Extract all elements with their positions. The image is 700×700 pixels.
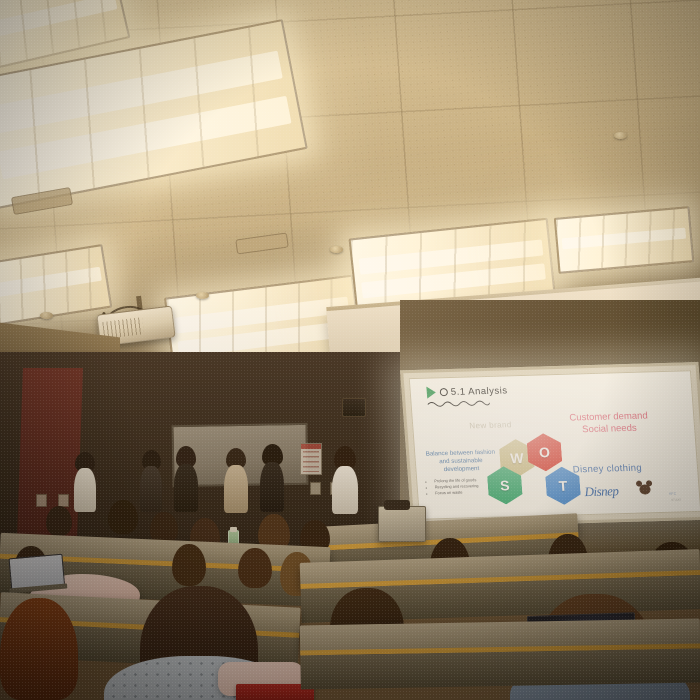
presenter-standing	[224, 448, 248, 510]
ceiling-sprinkler	[330, 246, 343, 253]
corner-logo-top: AFC	[669, 492, 677, 496]
new-brand-label: New brand	[469, 420, 512, 430]
slide-content: 5.1 Analysis New brand Customer demand S…	[410, 371, 700, 518]
wall-poster	[300, 443, 322, 475]
mickey-mouse-silhouette-icon	[636, 480, 653, 494]
audience-person	[172, 544, 206, 586]
av-equipment-top	[384, 500, 410, 510]
ceiling-sprinkler	[40, 312, 53, 319]
audience-person	[46, 506, 72, 536]
customer-demand-block: Customer demand Social needs	[551, 410, 668, 437]
av-equipment-cabinet	[378, 506, 426, 542]
classroom-photo-scene: 5.1 Analysis New brand Customer demand S…	[0, 0, 700, 700]
wavy-underline-icon	[427, 399, 490, 408]
customer-demand-line2: Social needs	[552, 422, 668, 437]
disney-clothing-label: Disney clothing	[572, 463, 642, 476]
slide-title-group: 5.1 Analysis	[426, 384, 508, 398]
wall-speaker	[342, 398, 366, 417]
balance-text: Balance between fashion and sustainable …	[421, 449, 501, 475]
presenter-standing	[332, 446, 358, 512]
green-play-triangle-icon	[426, 386, 436, 398]
corner-logo-bottom: STUDIO	[671, 498, 681, 501]
ceiling-sprinkler	[196, 292, 209, 299]
ceiling-light-panel	[554, 206, 694, 274]
slide-corner-logo: AFC STUDIO	[669, 491, 688, 504]
wall-outlet	[310, 482, 321, 495]
poster-rows	[303, 451, 319, 472]
wall-outlet	[36, 494, 47, 507]
poster-header	[301, 444, 321, 449]
ceiling-sprinkler	[614, 132, 627, 139]
projection-screen: 5.1 Analysis New brand Customer demand S…	[400, 362, 700, 528]
slide-title: 5.1 Analysis	[450, 385, 508, 398]
presenter-standing	[260, 444, 284, 510]
presenter-standing	[74, 452, 96, 510]
open-laptop[interactable]	[9, 554, 66, 595]
outline-circle-icon	[440, 388, 449, 396]
lecture-desk-row	[300, 619, 700, 656]
presenter-standing	[140, 450, 162, 510]
audience-person-foreground	[0, 598, 78, 700]
disney-wordmark: Disnep	[584, 483, 619, 500]
audience-person	[238, 548, 272, 588]
audience-person	[108, 500, 138, 534]
presenter-standing	[174, 446, 198, 510]
projected-slide: 5.1 Analysis New brand Customer demand S…	[409, 370, 700, 520]
